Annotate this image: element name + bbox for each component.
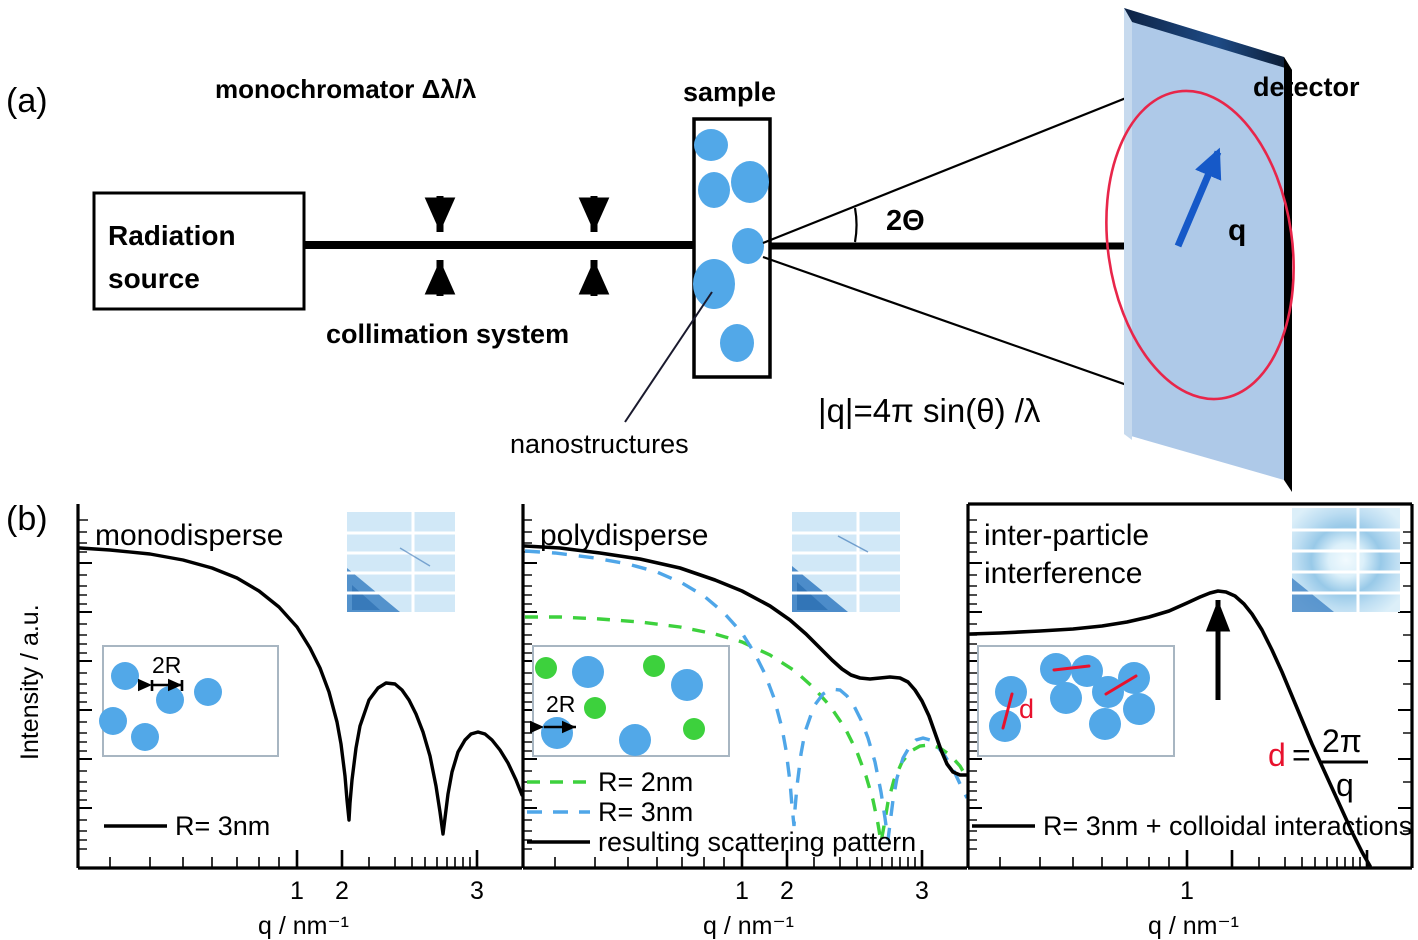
plot-polydisperse: 1 2 3 q / nm⁻¹ polydisperse bbox=[523, 504, 967, 940]
collimation-label: collimation system bbox=[326, 319, 569, 349]
detector-left-edge bbox=[1124, 8, 1132, 440]
plot2-xtick-3: 3 bbox=[915, 877, 929, 905]
plot3-title-line1: inter-particle bbox=[984, 519, 1149, 552]
plot1-xtick-3: 3 bbox=[470, 877, 484, 905]
panel-a-label: (a) bbox=[6, 82, 48, 120]
plot2-xtick-1: 1 bbox=[735, 877, 749, 905]
plot3-annotation-d: d bbox=[1268, 737, 1286, 773]
plot3-particle-inset: d bbox=[978, 646, 1174, 756]
q-equation: |q|=4π sin(θ) /λ bbox=[818, 392, 1041, 429]
plot3-legend-label-0: R= 3nm + colloidal interactions bbox=[1043, 811, 1412, 841]
plot1-title: monodisperse bbox=[95, 519, 283, 552]
plot1-particle-inset: 2R bbox=[99, 646, 278, 756]
plot3-x-axis-label: q / nm⁻¹ bbox=[1148, 912, 1239, 940]
y-axis-label: Intensity / a.u. bbox=[16, 604, 44, 760]
plot2-legend: R= 2nm R= 3nm resulting scattering patte… bbox=[527, 767, 916, 857]
saxs-figure-svg: (a) monochromator Δλ/λ Radiation source … bbox=[0, 0, 1418, 940]
radiation-source-line1: Radiation bbox=[108, 220, 236, 251]
plot-interparticle: 1 q / nm⁻¹ inter-particle interference bbox=[968, 504, 1412, 940]
radiation-source-line2: source bbox=[108, 263, 200, 294]
plot3-legend: R= 3nm + colloidal interactions bbox=[972, 811, 1412, 841]
panel-b-label: (b) bbox=[6, 500, 48, 538]
q-vector-label: q bbox=[1228, 214, 1246, 247]
plot2-legend-label-0: R= 2nm bbox=[598, 767, 693, 797]
nanostructures-label: nanostructures bbox=[510, 429, 689, 459]
plot2-legend-label-1: R= 3nm bbox=[598, 797, 693, 827]
plot2-x-axis-label: q / nm⁻¹ bbox=[703, 912, 794, 940]
sample-label: sample bbox=[683, 77, 776, 107]
plot3-xtick-1: 1 bbox=[1180, 877, 1194, 905]
plot2-detector-inset bbox=[792, 512, 900, 612]
plot1-inset-label: 2R bbox=[152, 652, 181, 678]
plot3-inset-label: d bbox=[1019, 694, 1034, 724]
plot3-annotation-den: q bbox=[1336, 767, 1354, 803]
plot2-xtick-2: 2 bbox=[780, 877, 794, 905]
plot2-particle-inset: 2R bbox=[533, 646, 729, 756]
plot3-annotation-num: 2π bbox=[1322, 723, 1362, 759]
plot2-legend-label-2: resulting scattering pattern bbox=[598, 827, 916, 857]
plot1-legend-label-0: R= 3nm bbox=[175, 811, 270, 841]
plot1-x-axis-label: q / nm⁻¹ bbox=[258, 912, 349, 940]
detector-right-side bbox=[1284, 57, 1292, 492]
plot3-right-ticks bbox=[1398, 532, 1412, 831]
figure-root: (a) monochromator Δλ/λ Radiation source … bbox=[0, 0, 1418, 940]
two-theta-arc bbox=[855, 208, 857, 242]
two-theta-label: 2Θ bbox=[886, 205, 925, 237]
plot1-detector-inset bbox=[347, 512, 455, 612]
panel-a-schematic: (a) monochromator Δλ/λ Radiation source … bbox=[6, 8, 1360, 492]
plot3-detector-inset bbox=[1292, 508, 1400, 612]
plot1-xtick-1: 1 bbox=[290, 877, 304, 905]
plot3-title-line2: interference bbox=[984, 557, 1142, 590]
detector-label: detector bbox=[1253, 72, 1360, 102]
plot3-x-ticks bbox=[1000, 850, 1367, 868]
plot1-xtick-2: 2 bbox=[335, 877, 349, 905]
plot2-inset-label: 2R bbox=[546, 691, 575, 717]
plot3-annotation-eq: = bbox=[1292, 737, 1311, 773]
plot-monodisperse: 1 2 3 q / nm⁻¹ monodisperse bbox=[78, 504, 522, 940]
monochromator-label: monochromator Δλ/λ bbox=[215, 74, 477, 104]
